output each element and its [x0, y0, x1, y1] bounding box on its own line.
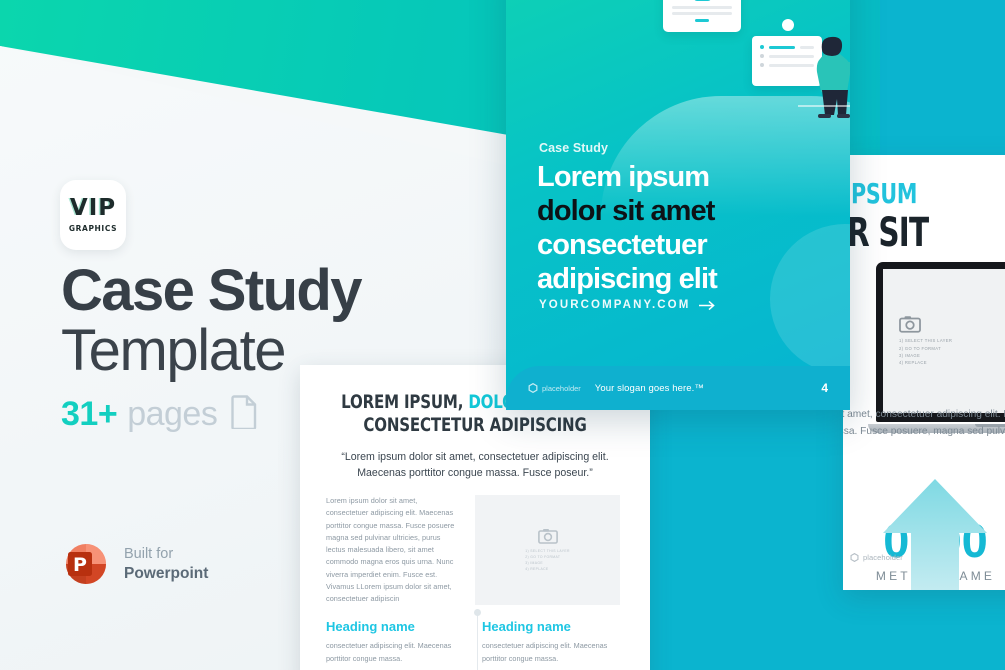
hero-slogan: Your slogan goes here.™	[595, 383, 704, 394]
slide-preview-right[interactable]: LOREM IPSUM DOLOR SIT 1) SELECT THIS LAY…	[843, 155, 1005, 590]
card-line	[672, 6, 732, 9]
checklist-row	[760, 63, 814, 67]
profile-badge-icon	[694, 0, 711, 1]
laptop-image-placeholder[interactable]: 1) SELECT THIS LAYER 2) GO TO FORMAT 3) …	[883, 269, 1005, 413]
laptop-placeholder-instructions: 1) SELECT THIS LAYER 2) GO TO FORMAT 3) …	[899, 337, 1005, 366]
checklist-row	[760, 45, 814, 49]
laptop-screen: 1) SELECT THIS LAYER 2) GO TO FORMAT 3) …	[876, 262, 1005, 422]
checklist-dot	[760, 54, 764, 58]
slide-preview-center[interactable]: LOREM IPSUM, DOLOR SIT AMET CONSECTETUR …	[300, 365, 650, 670]
checklist-line	[769, 55, 814, 58]
hero-page-number: 4	[821, 381, 828, 395]
svg-text:P: P	[73, 554, 87, 576]
center-heading-block-1: Heading name consectetuer adipiscing eli…	[326, 619, 468, 665]
placeholder-logo-icon	[850, 553, 859, 562]
checklist-dot	[760, 45, 764, 49]
up-arrow-icon	[875, 477, 995, 590]
right-slide-title-line2: DOLOR SIT	[843, 210, 928, 256]
card-line	[672, 12, 732, 15]
vip-logo-word: VIP	[70, 197, 116, 220]
center-slide-quote-line1: “Lorem ipsum dolor sit amet, consectetue…	[341, 451, 608, 463]
right-slide-title-line1: LOREM IPSUM	[843, 177, 917, 210]
powerpoint-text: Built for Powerpoint	[124, 544, 208, 584]
hero-eyebrow: Case Study	[539, 141, 608, 155]
center-slide-title-line2: CONSECTETUR ADIPISCING	[363, 414, 586, 436]
hero-url-link[interactable]: YOURCOMPANY.COM	[539, 299, 716, 311]
pages-label: pages	[127, 395, 217, 434]
laptop-step-1: 1) SELECT THIS LAYER	[899, 337, 1005, 344]
hero-url-text: YOURCOMPANY.COM	[539, 299, 690, 311]
vip-logo-subtitle: GRAPHICS	[69, 224, 117, 233]
laptop-step-3: 3) IMAGE	[899, 352, 1005, 359]
center-slide-title-part1: LOREM IPSUM,	[341, 391, 468, 413]
heading-name-2: Heading name	[482, 619, 624, 634]
placeholder-logo-text: placeholder	[863, 553, 903, 562]
hero-title-line2: dolor sit amet	[537, 195, 715, 227]
page-title-line1: Case Study	[61, 262, 361, 320]
checklist-row	[760, 54, 814, 58]
placeholder-step-4: 4) REPLACE	[525, 567, 570, 573]
hero-title-line3: consectetuer	[537, 229, 707, 261]
built-for-powerpoint: P Built for Powerpoint	[62, 540, 208, 588]
laptop-step-2: 2) GO TO FORMAT	[899, 345, 1005, 352]
center-slide-image-placeholder[interactable]: 1) SELECT THIS LAYER 2) GO TO FORMAT 3) …	[475, 495, 620, 605]
placeholder-logo-icon	[528, 383, 538, 393]
right-slide-content: LOREM IPSUM DOLOR SIT 1) SELECT THIS LAY…	[843, 155, 1005, 590]
center-slide-columns: Lorem ipsum dolor sit amet, consectetuer…	[326, 495, 624, 605]
hero-title-line4: adipiscing elit	[537, 263, 717, 295]
column-divider	[477, 613, 478, 670]
vip-graphics-logo[interactable]: VIP GRAPHICS	[60, 180, 126, 250]
arrow-right-icon	[699, 300, 716, 311]
checklist-dot	[760, 63, 764, 67]
powerpoint-label: Powerpoint	[124, 565, 208, 582]
standing-person-illustration	[812, 24, 850, 124]
hero-placeholder-logo: placeholder	[528, 383, 581, 393]
center-heading-block-2: Heading name consectetuer adipiscing eli…	[482, 619, 624, 665]
heading-body-2: consectetuer adipiscing elit. Maecenas p…	[482, 640, 624, 665]
card-accent-dash	[695, 19, 709, 22]
ground-line	[798, 105, 850, 107]
solid-dot-decoration	[782, 19, 794, 31]
slide-preview-hero[interactable]: Case Study Lorem ipsum dolor sit amet co…	[506, 0, 850, 410]
built-for-label: Built for	[124, 546, 173, 562]
center-slide-headings: Heading name consectetuer adipiscing eli…	[326, 619, 624, 665]
page-title-line2: Template	[61, 322, 285, 380]
placeholder-step-1: 1) SELECT THIS LAYER	[525, 549, 570, 555]
checklist-line	[769, 64, 814, 67]
pages-count: 31+	[61, 395, 117, 434]
camera-icon	[899, 315, 921, 333]
checklist-line	[769, 46, 795, 49]
heading-name-1: Heading name	[326, 619, 468, 634]
metric-block: 0000 METRIC NAME	[843, 477, 1005, 583]
center-slide-quote: “Lorem ipsum dolor sit amet, consectetue…	[318, 450, 632, 481]
heading-body-1: consectetuer adipiscing elit. Maecenas p…	[326, 640, 468, 665]
camera-icon	[538, 528, 558, 544]
laptop-step-4: 4) REPLACE	[899, 359, 1005, 366]
hero-title: Lorem ipsum dolor sit amet consectetuer …	[537, 161, 837, 297]
hero-slide-footer: placeholder Your slogan goes here.™ 4	[506, 366, 850, 410]
poster-canvas: VIP GRAPHICS Case Study Template 31+ pag…	[0, 0, 1005, 670]
right-slide-paragraph: Lorem ipsum dolor sit amet, consectetuer…	[843, 407, 1005, 440]
hero-title-line1: Lorem ipsum	[537, 161, 709, 193]
center-slide-body-text: Lorem ipsum dolor sit amet, consectetuer…	[326, 495, 461, 605]
document-icon	[231, 395, 258, 434]
center-slide-quote-line2: Maecenas porttitor congue massa. Fusce p…	[357, 467, 593, 479]
powerpoint-icon: P	[62, 540, 110, 588]
pages-count-row: 31+ pages	[61, 395, 258, 434]
center-placeholder-instructions: 1) SELECT THIS LAYER 2) GO TO FORMAT 3) …	[525, 549, 570, 573]
right-slide-placeholder-logo: placeholder	[850, 553, 903, 562]
hero-placeholder-text: placeholder	[542, 384, 581, 393]
profile-card-illustration	[663, 0, 741, 32]
